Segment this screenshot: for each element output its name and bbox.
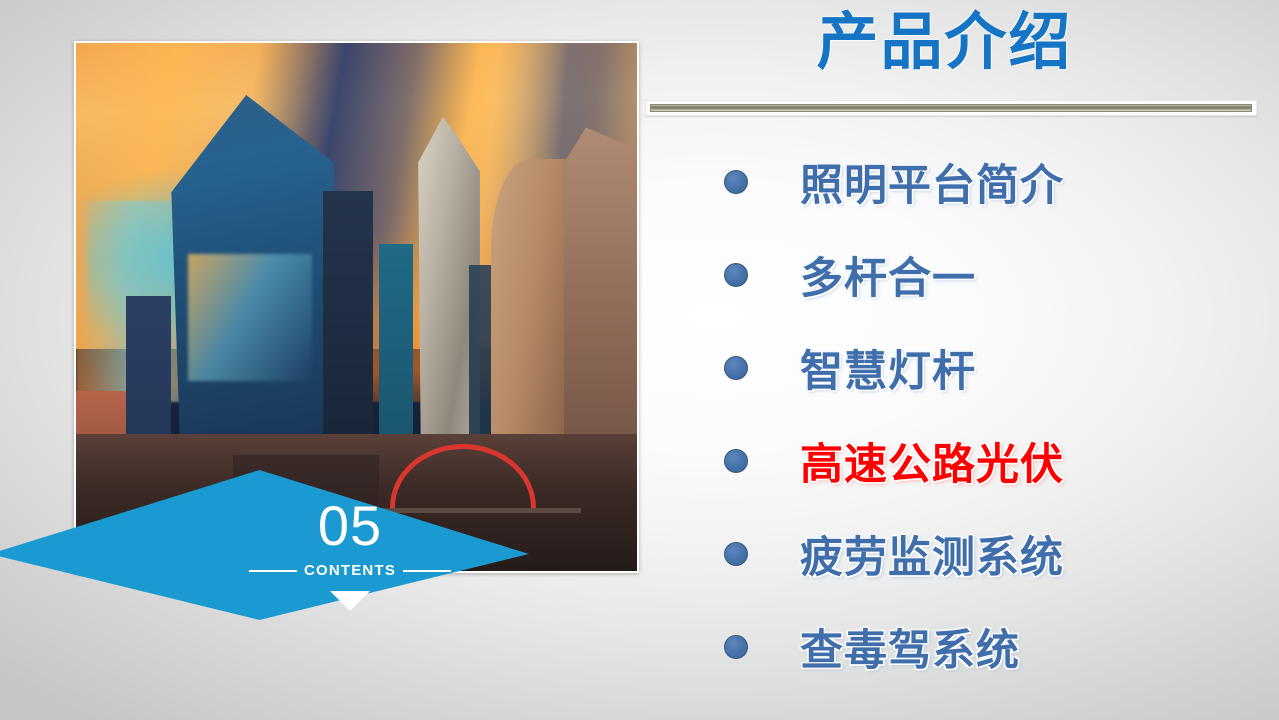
bullet-dot-icon [724, 170, 748, 194]
page-title: 产品介绍 [640, 6, 1249, 79]
bullet-dot-icon [724, 449, 748, 473]
bullet-list: 照明平台简介 多杆合一 智慧灯杆 高速公路光伏 疲劳监测系统 查毒驾系统 [640, 135, 1279, 693]
cityscape-photo-frame [74, 41, 639, 573]
bullet-label-1: 照明平台简介 [800, 151, 1064, 213]
bullet-dot-icon [724, 356, 748, 380]
list-item-highlighted[interactable]: 高速公路光伏 [640, 414, 1279, 507]
bullet-label-5: 疲劳监测系统 [800, 523, 1064, 585]
cityscape-photo [76, 43, 637, 571]
list-item[interactable]: 疲劳监测系统 [640, 507, 1279, 600]
list-item[interactable]: 多杆合一 [640, 228, 1279, 321]
slide-canvas: 05 CONTENTS 产品介绍 照明平台简介 多杆合一 智慧灯杆 [0, 0, 1279, 720]
bullet-label-6: 查毒驾系统 [800, 616, 1020, 678]
bullet-label-2: 多杆合一 [800, 244, 976, 306]
right-content-column: 产品介绍 照明平台简介 多杆合一 智慧灯杆 高速公路光伏 [640, 0, 1279, 720]
bullet-label-4: 高速公路光伏 [800, 430, 1064, 492]
bullet-label-3: 智慧灯杆 [800, 337, 976, 399]
list-item[interactable]: 照明平台简介 [640, 135, 1279, 228]
bullet-dot-icon [724, 542, 748, 566]
title-divider [645, 100, 1257, 116]
bullet-dot-icon [724, 263, 748, 287]
title-divider-bar [650, 104, 1252, 112]
list-item[interactable]: 查毒驾系统 [640, 600, 1279, 693]
building-glass-reflection [188, 254, 311, 381]
list-item[interactable]: 智慧灯杆 [640, 321, 1279, 414]
bullet-dot-icon [724, 635, 748, 659]
